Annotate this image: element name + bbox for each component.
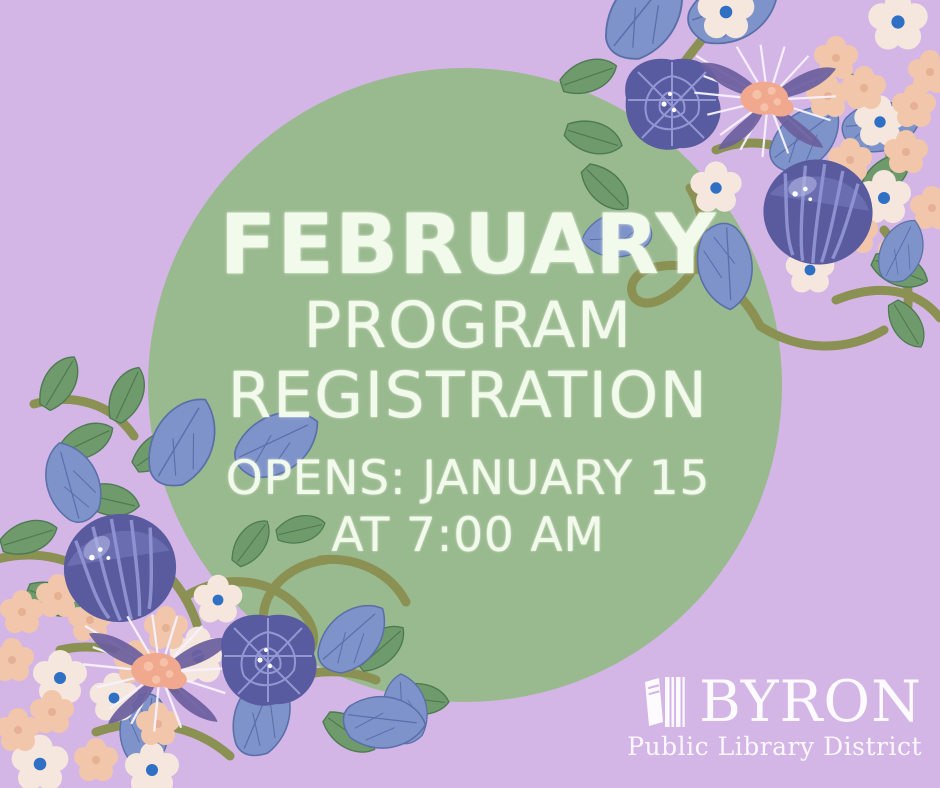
book-barcode-icon — [635, 674, 693, 730]
logo-wordmark-row: BYRON — [627, 674, 922, 731]
poster-canvas: FEBRUARY PROGRAM REGISTRATION OPENS: JAN… — [0, 0, 940, 788]
headline-line-registration: REGISTRATION — [150, 361, 786, 432]
logo-name: BYRON — [699, 674, 922, 731]
headline-month: FEBRUARY — [150, 206, 786, 285]
logo-tagline: Public Library District — [627, 733, 922, 761]
library-logo: BYRON Public Library District — [627, 674, 922, 761]
headline-line-program: PROGRAM — [150, 291, 786, 362]
headline-line-opens-time: AT 7:00 AM — [150, 507, 786, 564]
headline-line-opens-date: OPENS: JANUARY 15 — [150, 450, 786, 507]
headline-text-block: FEBRUARY PROGRAM REGISTRATION OPENS: JAN… — [150, 206, 786, 565]
